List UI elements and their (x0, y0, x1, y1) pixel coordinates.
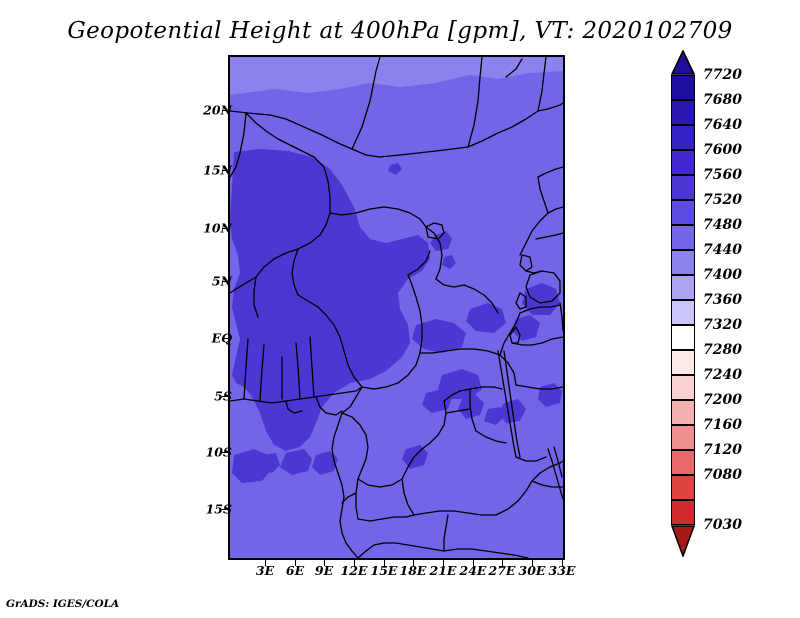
colorbar-label-7440: 7440 (703, 242, 742, 258)
colorbar-label-7030: 7030 (703, 517, 742, 533)
colorbar-label-7560: 7560 (703, 167, 742, 183)
colorbar-cell-16 (671, 475, 695, 500)
lon-tick-12e (354, 560, 355, 566)
lon-tick-9e (324, 560, 325, 566)
lon-tick-6e (295, 560, 296, 566)
colorbar-cell-2 (671, 125, 695, 150)
lon-tick-33e (562, 560, 563, 566)
colorbar-label-7320: 7320 (703, 317, 742, 333)
colorbar-cell-9 (671, 300, 695, 325)
colorbar-label-7240: 7240 (703, 367, 742, 383)
colorbar-label-7360: 7360 (703, 292, 742, 308)
colorbar-cell-6 (671, 225, 695, 250)
lon-tick-3e (265, 560, 266, 566)
map-panel (228, 55, 565, 560)
colorbar-cell-4 (671, 175, 695, 200)
colorbar-cell-10 (671, 325, 695, 350)
colorbar-label-7720: 7720 (703, 67, 742, 83)
lat-tick-15n (222, 170, 228, 171)
map-contour-layer (230, 57, 563, 558)
colorbar-cell-0 (671, 75, 695, 100)
page-title: Geopotential Height at 400hPa [gpm], VT:… (0, 18, 800, 44)
colorbar-label-7080: 7080 (703, 467, 742, 483)
lon-tick-21e (443, 560, 444, 566)
lat-tick-20n (222, 110, 228, 111)
map-plot-area (228, 55, 565, 560)
colorbar-label-7200: 7200 (703, 392, 742, 408)
lon-tick-18e (413, 560, 414, 566)
colorbar-label-7160: 7160 (703, 417, 742, 433)
colorbar-cell-1 (671, 100, 695, 125)
colorbar-cell-12 (671, 375, 695, 400)
lat-tick-10s (222, 452, 228, 453)
colorbar-bottom-cap (671, 525, 695, 557)
colorbar-cell-8 (671, 275, 695, 300)
lat-tick-5n (222, 281, 228, 282)
colorbar-label-7280: 7280 (703, 342, 742, 358)
lat-tick-10n (222, 228, 228, 229)
colorbar-label-7120: 7120 (703, 442, 742, 458)
colorbar-cell-15 (671, 450, 695, 475)
lon-tick-27e (502, 560, 503, 566)
colorbar-label-7600: 7600 (703, 142, 742, 158)
colorbar-cell-14 (671, 425, 695, 450)
colorbar-cell-17 (671, 500, 695, 525)
colorbar-cell-3 (671, 150, 695, 175)
lat-tick-5s (222, 396, 228, 397)
colorbar-label-7480: 7480 (703, 217, 742, 233)
colorbar-label-7680: 7680 (703, 92, 742, 108)
colorbar-cell-11 (671, 350, 695, 375)
lat-tick-eq (222, 338, 228, 339)
colorbar-label-7400: 7400 (703, 267, 742, 283)
colorbar: 7720 7680 7640 7600 7560 7520 7480 7440 … (671, 50, 791, 560)
colorbar-cell-5 (671, 200, 695, 225)
grads-credit: GrADS: IGES/COLA (6, 598, 119, 610)
colorbar-label-7640: 7640 (703, 117, 742, 133)
lon-tick-24e (473, 560, 474, 566)
colorbar-cell-13 (671, 400, 695, 425)
colorbar-cell-7 (671, 250, 695, 275)
lon-tick-30e (532, 560, 533, 566)
lat-tick-15s (222, 509, 228, 510)
colorbar-top-cap (671, 50, 695, 75)
colorbar-label-7520: 7520 (703, 192, 742, 208)
lon-tick-15e (384, 560, 385, 566)
